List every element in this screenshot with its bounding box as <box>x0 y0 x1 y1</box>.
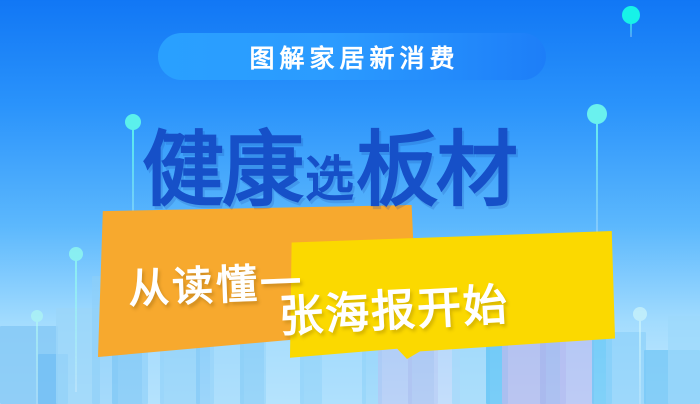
lollipop-ball <box>587 104 607 124</box>
header-pill-label: 图解家居新消费 <box>244 39 459 75</box>
lollipop-icon <box>633 307 647 404</box>
headline-part-2: 选 <box>302 157 356 208</box>
lollipop-stem <box>75 254 77 392</box>
lollipop-ball <box>125 114 141 130</box>
header-pill: 图解家居新消费 <box>158 33 546 80</box>
headline-part-1: 健康 <box>142 133 302 208</box>
lollipop-icon <box>69 247 83 399</box>
lollipop-icon <box>587 104 607 242</box>
skyline-building <box>668 316 700 404</box>
lollipop-stem <box>639 314 641 404</box>
lollipop-ball <box>31 310 43 322</box>
poster-canvas: 图解家居新消费 健康 选 板材 从读懂一 张海报开始 <box>0 0 700 404</box>
lollipop-ball <box>69 247 83 261</box>
subtitle-line-yellow: 张海报开始 <box>277 269 510 345</box>
lollipop-icon <box>31 310 43 404</box>
lollipop-stem <box>36 316 38 404</box>
lollipop-stem <box>596 114 598 232</box>
lollipop-icon <box>622 6 640 46</box>
lollipop-ball <box>633 307 647 321</box>
lollipop-ball <box>622 6 640 24</box>
headline: 健康 选 板材 <box>142 133 516 208</box>
headline-part-3: 板材 <box>356 133 516 208</box>
